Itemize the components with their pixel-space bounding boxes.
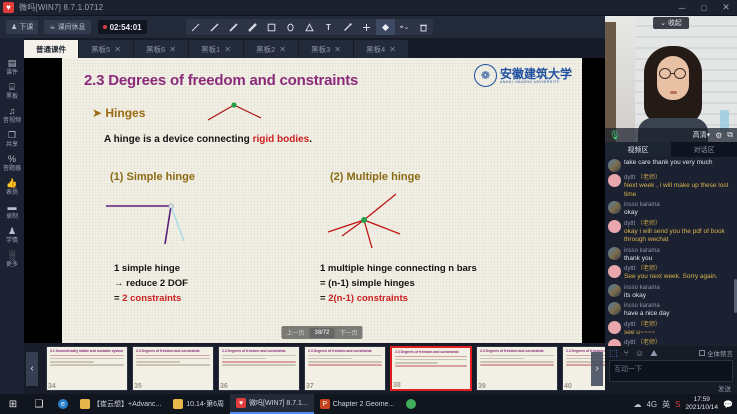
thumbnail-title: 3.1 Geometrically stable and unstable sy… — [47, 347, 127, 353]
sidebar-item-learning-status[interactable]: ♟ 学情 — [0, 224, 24, 246]
sidebar-item-label: 录制 — [0, 213, 24, 221]
system-tray: ☁ 4G 英 S 17:59 2021/10/14 💬 — [633, 396, 737, 412]
thumbnail-number: 36 — [220, 383, 228, 390]
avatar — [608, 247, 621, 260]
thumbnail-line — [136, 358, 210, 360]
close-button[interactable]: ✕ — [715, 0, 737, 16]
sidebar-item-share[interactable]: ❐ 共享 — [0, 128, 24, 150]
column2-heading: (2) Multiple hinge — [330, 171, 420, 183]
message-text: see u~~~~ — [624, 329, 661, 338]
thumbnail-line — [395, 359, 467, 361]
hinge-sketch-diagram — [205, 100, 265, 122]
thumbnail-line — [222, 358, 266, 360]
message-sender: insso karama — [624, 302, 670, 310]
left-sidebar: ▤ 课件 ⌸ 黑板 ♫ 音视频 ❐ 共享 % 答题器 👍 表扬 ▬ 录制 ♟ — [0, 38, 24, 394]
avatar — [608, 201, 621, 214]
video-quality-selector[interactable]: 高清▾ — [693, 130, 711, 140]
thumbnail-item[interactable]: 2.3 Degrees of freedom and constraints 3… — [132, 346, 214, 391]
network-icon[interactable]: 4G — [646, 400, 657, 409]
close-icon[interactable]: ✕ — [389, 45, 396, 54]
sentence-post: . — [309, 134, 312, 145]
tab-chat-area[interactable]: 对话区 — [671, 142, 737, 157]
chat-message: dyttt （老师） See you next week. Sorry agai… — [608, 265, 734, 282]
rectangle-icon[interactable] — [262, 19, 281, 35]
prev-page-button[interactable]: 上一页 — [281, 326, 309, 339]
taskbar-clock[interactable]: 17:59 2021/10/14 — [685, 396, 718, 412]
chevron-down-icon: ⌄ — [660, 19, 666, 27]
thumbnail-item[interactable]: 3.1 Geometrically stable and unstable sy… — [46, 346, 128, 391]
thumbnail-line — [136, 355, 210, 357]
window-title: 微吗[WIN7] 8.7.1.0712 — [19, 2, 103, 13]
slide-title: 2.3 Degrees of freedom and constraints — [84, 72, 358, 89]
taskbar-item-folder-1[interactable]: 【崔云想】+Advanc... — [74, 394, 167, 414]
university-logo: ❁ 安徽建筑大学 ANHUI JIANZHU UNIVERSITY — [474, 64, 572, 87]
thumbnail-line — [480, 361, 554, 363]
chat-toolbar: ⬚ ⑂ ☺ ⛰ 全体禁言 — [605, 346, 737, 360]
thumbnail-line — [222, 361, 296, 363]
video-door-frame — [605, 22, 616, 142]
page-indicator: 38/72 — [309, 328, 334, 338]
close-icon[interactable]: ✕ — [169, 45, 176, 54]
thumbnail-title: 2.3 Degrees of freedom and constraints — [219, 347, 299, 353]
message-sender: dyttt （老师） — [624, 220, 734, 228]
taskbar-item-label: 10.14-第6周 — [186, 399, 224, 409]
microphone-icon[interactable]: 🎙 — [609, 130, 620, 141]
start-button-icon[interactable]: ⊞ — [0, 399, 26, 410]
task-view-icon[interactable]: ❑ — [26, 399, 52, 410]
column1-line-3: = 2 constraints — [114, 291, 188, 306]
tab-label: 黑板4 — [366, 44, 385, 55]
avatar — [608, 220, 621, 233]
avatar — [608, 339, 621, 346]
record-dot-icon — [103, 25, 107, 29]
application-window: ♥ 微吗[WIN7] 8.7.1.0712 ─ □ ✕ ♟ 下课 ☕ 课间休息 … — [0, 0, 737, 414]
mute-all-checkbox[interactable]: 全体禁言 — [699, 348, 733, 358]
minimize-button[interactable]: ─ — [671, 0, 693, 16]
tab-courseware[interactable]: 普通课件 — [24, 40, 78, 58]
thumbnail-title: 2.3 Degrees of freedom and constraints — [477, 347, 557, 353]
taskbar-item-app-green[interactable] — [400, 394, 422, 414]
app-logo-icon: ♥ — [236, 398, 246, 408]
highlighter-icon[interactable] — [338, 19, 357, 35]
drawing-tools: T ⌖⌄ — [186, 19, 433, 35]
taskbar-item-label: 【崔云想】+Advanc... — [93, 399, 161, 409]
thumbnail-line — [136, 361, 180, 363]
chat-message: dyttt （老师） have a nice day 🙏 — [608, 339, 734, 346]
tab-blackboard-5[interactable]: 黑板5 ✕ — [79, 40, 133, 58]
crop-icon[interactable]: ⌖⌄ — [395, 19, 414, 35]
thumbnails-next-icon[interactable]: › — [591, 352, 603, 386]
thumbnail-line — [308, 358, 352, 360]
sogou-icon[interactable]: S — [675, 400, 680, 409]
chat-input[interactable]: 互动一下 — [609, 360, 733, 382]
thumbnail-line — [50, 361, 94, 363]
mute-all-label: 全体禁言 — [707, 348, 733, 358]
bell-icon: ♟ — [11, 23, 17, 31]
tab-label: 普通课件 — [36, 44, 66, 55]
sidebar-item-label: 音视频 — [0, 117, 24, 125]
thumbnail-line — [50, 355, 124, 357]
sidebar-item-courseware[interactable]: ▤ 课件 — [0, 56, 24, 78]
tab-label: 黑板5 — [91, 44, 110, 55]
column1-line-2: → reduce 2 DOF — [114, 276, 188, 291]
timer-value: 02:54:01 — [110, 23, 142, 32]
message-sender: insso karama — [624, 247, 660, 255]
learning-status-icon: ♟ — [0, 226, 24, 237]
sidebar-item-label: 答题器 — [0, 165, 24, 173]
thumbnail-line — [395, 362, 438, 364]
tab-blackboard-6[interactable]: 黑板6 ✕ — [134, 40, 188, 58]
windows-taskbar: ⊞ ❑ e 【崔云想】+Advanc... 10.14-第6周 ♥ 微吗[WIN… — [0, 394, 737, 414]
cloud-icon[interactable]: ☁ — [633, 400, 641, 409]
glasses-bridge — [671, 73, 674, 74]
sentence-red: rigid bodies — [253, 134, 310, 145]
thumbnail-line — [50, 364, 124, 366]
tab-label: 黑板1 — [201, 44, 220, 55]
sidebar-item-blackboard[interactable]: ⌸ 黑板 — [0, 80, 24, 102]
courseware-icon: ▤ — [0, 58, 24, 69]
thumbnail-line — [308, 361, 382, 363]
column2-line-2: = (n-1) simple hinges — [320, 276, 477, 291]
thumbnail-title: 2.3 Degrees of freedom and constraints — [392, 348, 470, 354]
simple-hinge-diagram — [104, 196, 224, 248]
taskbar-item-label: Chapter 2 Geome... — [333, 401, 394, 408]
right-panel: ⌄ 收起 🎙 高清▾ ⚙ ⧉ 视频区 对话区 take care thank y… — [605, 16, 737, 394]
sidebar-item-media[interactable]: ♫ 音视频 — [0, 104, 24, 126]
send-button[interactable]: 发送 — [718, 383, 731, 393]
video-controls-right: 高清▾ ⚙ ⧉ — [693, 130, 733, 140]
close-icon[interactable]: ✕ — [114, 45, 121, 54]
checkbox-icon — [699, 350, 705, 356]
end-class-label: 下课 — [19, 22, 33, 32]
thumbnail-item[interactable]: 2.3 Degrees of freedom and constraints 3… — [476, 346, 558, 391]
thumbnail-line — [480, 355, 554, 357]
tab-blackboard-4[interactable]: 黑板4 ✕ — [354, 40, 408, 58]
thumbnail-line — [222, 355, 296, 357]
sentence-pre: A hinge is a device connecting — [104, 134, 253, 145]
image-icon[interactable]: ⛰ — [650, 348, 658, 359]
multiple-hinge-diagram — [314, 192, 424, 250]
seal-icon: ❁ — [474, 64, 497, 87]
thumbnail-line — [480, 358, 524, 360]
chat-message: insso karama its okay — [608, 284, 734, 301]
break-button[interactable]: ☕ 课间休息 — [44, 20, 90, 34]
chat-message: insso karama okay — [608, 201, 734, 218]
slide-stage[interactable]: 2.3 Degrees of freedom and constraints ❁… — [24, 58, 605, 343]
thumbnail-line — [136, 364, 210, 366]
sidebar-item-responder[interactable]: % 答题器 — [0, 152, 24, 174]
video-controls-bar: 🎙 高清▾ ⚙ ⧉ — [605, 128, 737, 142]
glasses-left-icon — [659, 68, 671, 79]
slide-page-navigation: 上一页 38/72 下一页 — [281, 326, 362, 339]
avatar — [608, 302, 621, 315]
sidebar-item-label: 表扬 — [0, 189, 24, 197]
sidebar-item-label: 共享 — [0, 141, 24, 149]
thumbnail-line — [222, 364, 296, 366]
column2-text: 1 multiple hinge connecting n bars = (n-… — [320, 261, 477, 306]
thumbnail-line — [480, 364, 554, 366]
tab-video-area[interactable]: 视频区 — [605, 142, 671, 157]
tab-blackboard-2[interactable]: 黑板2 ✕ — [244, 40, 298, 58]
folder-icon — [80, 399, 90, 409]
column2-line-3: = 2(n-1) constraints — [320, 291, 477, 306]
sidebar-item-more[interactable]: ░ 更多 — [0, 248, 24, 270]
thumbnail-line — [395, 356, 467, 358]
text-icon[interactable]: T — [319, 19, 338, 35]
sidebar-item-label: 课件 — [0, 69, 24, 77]
mention-icon[interactable]: ⑂ — [624, 348, 629, 358]
window-controls: ─ □ ✕ — [671, 0, 737, 16]
thumbnails-prev-icon[interactable]: ‹ — [26, 352, 38, 386]
tab-label: 黑板3 — [311, 44, 330, 55]
person-mouth — [670, 91, 677, 94]
collapse-label: 收起 — [668, 18, 682, 28]
message-icon[interactable]: ⬚ — [609, 348, 618, 359]
pen-thick-icon[interactable] — [224, 19, 243, 35]
glasses-right-icon — [674, 68, 686, 79]
column1-text: 1 simple hinge → reduce 2 DOF = 2 constr… — [114, 261, 188, 306]
close-icon[interactable]: ✕ — [334, 45, 341, 54]
grid-icon: ░ — [0, 250, 24, 261]
ime-icon[interactable]: 英 — [662, 399, 670, 410]
message-text: Next week , i will make up these lost ti… — [624, 182, 734, 199]
clock-time: 17:59 — [685, 396, 718, 404]
message-sender: dyttt （老师） — [624, 321, 661, 329]
thumbnail-item[interactable]: 2.3 Degrees of freedom and constraints 3… — [304, 346, 386, 391]
chat-message: insso karama thank you — [608, 247, 734, 264]
blackboard-icon: ⌸ — [0, 82, 24, 93]
media-icon: ♫ — [0, 106, 24, 117]
thumbnail-number: 39 — [478, 383, 486, 390]
percent-icon: % — [0, 154, 24, 165]
avatar — [608, 265, 621, 278]
thumbnail-number: 35 — [134, 383, 142, 390]
close-icon[interactable]: ✕ — [224, 45, 231, 54]
sidebar-item-label: 黑板 — [0, 93, 24, 101]
message-text: have a nice day — [624, 310, 670, 319]
avatar — [608, 174, 621, 187]
thumbnail-line — [50, 358, 124, 360]
message-sender: dyttt （老师） — [624, 339, 679, 346]
avatar — [608, 159, 621, 172]
avatar — [608, 321, 621, 334]
sidebar-item-label: 更多 — [0, 261, 24, 269]
sidebar-item-label: 学情 — [0, 237, 24, 245]
taskbar-item-folder-2[interactable]: 10.14-第6周 — [167, 394, 230, 414]
logo-name-cn: 安徽建筑大学 — [500, 68, 572, 80]
chat-send-row: 发送 — [605, 382, 737, 394]
notification-icon[interactable]: 💬 — [723, 400, 733, 409]
edge-icon: e — [58, 399, 68, 409]
message-sender: insso karama — [624, 284, 660, 292]
teacher-video[interactable]: ⌄ 收起 🎙 高清▾ ⚙ ⧉ — [605, 16, 737, 142]
app-logo-icon: ♥ — [3, 2, 14, 13]
pen-thin-icon[interactable] — [186, 19, 205, 35]
thumbnail-line — [395, 365, 467, 367]
next-page-button[interactable]: 下一页 — [335, 326, 363, 339]
chat-message-list[interactable]: take care thank you very much dyttt （老师）… — [605, 157, 737, 346]
move-icon[interactable] — [357, 19, 376, 35]
column2-line-1: 1 multiple hinge connecting n bars — [320, 261, 477, 276]
tab-blackboard-1[interactable]: 黑板1 ✕ — [189, 40, 243, 58]
message-text: See you next week. Sorry again. — [624, 273, 718, 282]
chat-message: insso karama have a nice day — [608, 302, 734, 319]
share-icon: ❐ — [0, 130, 24, 141]
maximize-button[interactable]: □ — [693, 0, 715, 16]
app-green-icon — [406, 399, 416, 409]
slide-canvas[interactable]: 2.3 Degrees of freedom and constraints ❁… — [62, 58, 582, 343]
thumbnail-line — [308, 355, 382, 357]
clock-date: 2021/10/14 — [685, 404, 718, 412]
right-panel-tabs: 视频区 对话区 — [605, 142, 737, 157]
trash-icon[interactable] — [414, 19, 433, 35]
message-sender: dyttt （老师） — [624, 174, 734, 182]
column2-red: 2(n-1) constraints — [328, 293, 408, 304]
chat-message: dyttt （老师） okay i will send you the pdf … — [608, 220, 734, 245]
powerpoint-icon: P — [320, 399, 330, 409]
title-bar: ♥ 微吗[WIN7] 8.7.1.0712 ─ □ ✕ — [0, 0, 737, 16]
record-icon: ▬ — [0, 202, 24, 213]
message-text: thank you — [624, 255, 660, 264]
chat-message: dyttt （老师） see u~~~~ — [608, 321, 734, 338]
break-label: 课间休息 — [58, 22, 86, 32]
hinge-definition-sentence: A hinge is a device connecting rigid bod… — [104, 134, 312, 145]
thumbnail-number: 37 — [306, 383, 314, 390]
pen-medium-icon[interactable] — [205, 19, 224, 35]
popout-icon[interactable]: ⧉ — [727, 130, 733, 140]
avatar — [608, 284, 621, 297]
tab-label: 黑板6 — [146, 44, 165, 55]
thumbnail-line — [566, 361, 610, 363]
chat-message: dyttt （老师） Next week , i will make up th… — [608, 174, 734, 199]
ellipse-icon[interactable] — [281, 19, 300, 35]
video-collapse-button[interactable]: ⌄ 收起 — [653, 17, 689, 29]
sidebar-item-praise[interactable]: 👍 表扬 — [0, 176, 24, 198]
thumbnail-title: 2.3 Degrees of freedom and constraints — [133, 347, 213, 353]
taskbar-item-label: 微吗[WIN7] 8.7.1... — [249, 398, 308, 408]
thumbnail-number: 38 — [393, 382, 401, 389]
folder-icon — [173, 399, 183, 409]
column1-heading: (1) Simple hinge — [110, 171, 195, 183]
eraser-icon[interactable] — [376, 19, 395, 35]
column1-red: 2 constraints — [122, 293, 181, 304]
message-text: okay — [624, 209, 660, 218]
triangle-icon[interactable] — [300, 19, 319, 35]
slide-thumbnail-strip: ‹ 3.1 Geometrically stable and unstable … — [24, 343, 605, 394]
sidebar-item-record[interactable]: ▬ 录制 — [0, 200, 24, 222]
message-text: take care thank you very much — [624, 159, 713, 168]
thumbs-up-icon: 👍 — [0, 178, 24, 189]
thumbnail-item-selected[interactable]: 2.3 Degrees of freedom and constraints 3… — [390, 346, 472, 391]
close-icon[interactable]: ✕ — [279, 45, 286, 54]
courseware-tab-strip: 普通课件 黑板5 ✕ 黑板6 ✕ 黑板1 ✕ 黑板2 ✕ 黑板3 ✕ 黑板4 ✕ — [0, 38, 605, 58]
class-timer: 02:54:01 — [98, 20, 147, 34]
taskbar-item-powerpoint[interactable]: P Chapter 2 Geome... — [314, 394, 400, 414]
tab-label: 黑板2 — [256, 44, 275, 55]
thumbnail-line — [308, 364, 382, 366]
thumbnail-title: 2.3 Degrees of freedom and constraints — [305, 347, 385, 353]
message-sender: dyttt （老师） — [624, 265, 718, 273]
taskbar-item-weima[interactable]: ♥ 微吗[WIN7] 8.7.1... — [230, 394, 314, 414]
bullet-hinges: ➤ Hinges — [92, 106, 145, 120]
gear-icon[interactable]: ⚙ — [715, 131, 722, 140]
pen-brush-icon[interactable] — [243, 19, 262, 35]
thumbnail-number: 40 — [564, 383, 572, 390]
emoji-icon[interactable]: ☺ — [635, 348, 644, 358]
chat-message: take care thank you very much — [608, 159, 734, 172]
end-class-button[interactable]: ♟ 下课 — [6, 20, 38, 34]
thumbnail-number: 34 — [48, 383, 56, 390]
message-sender: insso karama — [624, 201, 660, 209]
thumbnail-item[interactable]: 2.3 Degrees of freedom and constraints 3… — [218, 346, 300, 391]
coffee-icon: ☕ — [49, 23, 55, 31]
message-text: its okay — [624, 292, 660, 301]
column1-line-1: 1 simple hinge — [114, 261, 188, 276]
tab-blackboard-3[interactable]: 黑板3 ✕ — [299, 40, 353, 58]
taskbar-item-edge[interactable]: e — [52, 394, 74, 414]
message-text: okay i will send you the pdf of book thr… — [624, 228, 734, 245]
